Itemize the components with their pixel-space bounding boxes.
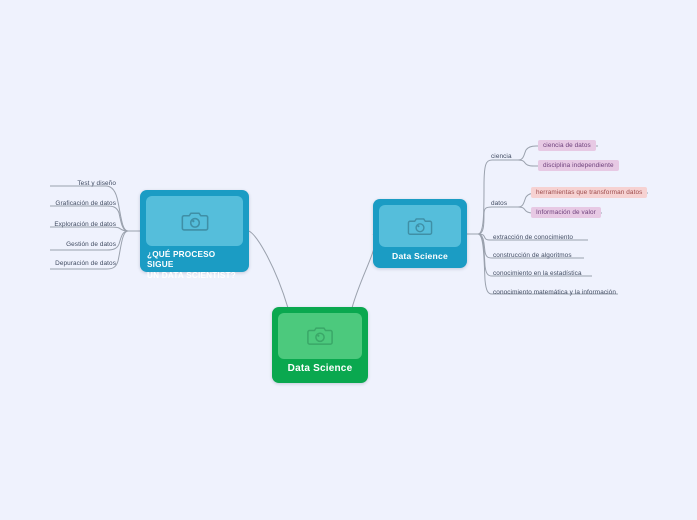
node-proceso-label-line1: ¿QUÉ PROCESO SIGUE [147,250,243,271]
leaf-ciencia[interactable]: ciencia [491,153,512,160]
node-data-science-thumbnail[interactable] [379,205,461,247]
camera-icon [407,216,433,237]
leaf-graficacion-de-datos[interactable]: Graficación de datos [50,200,116,207]
node-root-data-science[interactable]: Data Science [272,307,368,383]
mindmap-canvas: Data Science ¿QUÉ PROCESO SIGUE UN DATA … [0,0,697,520]
node-data-science-label: Data Science [379,251,461,262]
leaf-exploracion-de-datos[interactable]: Exploración de datos [50,221,116,228]
leaf-extraccion-de-conocimiento[interactable]: extracción de conocimiento [493,234,573,241]
leaf-depuracion-de-datos[interactable]: Depuración de datos [50,260,116,267]
leaf-conocimiento-matematica-y-la-informacion[interactable]: conocimiento matemática y la información [493,289,616,296]
link-root-to-proceso [249,231,288,308]
node-proceso-label-line2: UN DATA SCIENTIST? [147,271,243,281]
node-proceso-data-scientist[interactable]: ¿QUÉ PROCESO SIGUE UN DATA SCIENTIST? [140,190,249,272]
node-proceso-thumbnail[interactable] [146,196,243,246]
node-root-thumbnail[interactable] [278,313,362,359]
leaf-conocimiento-en-la-estadistica[interactable]: conocimiento en la estadística [493,270,582,277]
tag-informacion-de-valor[interactable]: Información de valor [531,207,601,218]
tag-ciencia-de-datos[interactable]: ciencia de datos [538,140,596,151]
link-right-1 [478,160,520,234]
tag-disciplina-independiente[interactable]: disciplina independiente [538,160,619,171]
node-data-science-right[interactable]: Data Science [373,199,467,268]
node-root-label: Data Science [278,363,362,376]
camera-icon [307,325,333,347]
link-root-to-datascience [352,234,375,308]
camera-icon [181,210,209,233]
tag-herramientas-que-transforman-datos[interactable]: herramientas que transforman datos [531,187,647,198]
link-right-6 [478,234,618,294]
leaf-construccion-de-algoritmos[interactable]: construcción de algoritmos [493,252,572,259]
leaf-datos[interactable]: datos [491,200,507,207]
leaf-test-y-diseno[interactable]: Test y diseño [50,180,116,187]
link-right-2 [478,207,520,234]
leaf-gestion-de-datos[interactable]: Gestión de datos [50,241,116,248]
node-proceso-label: ¿QUÉ PROCESO SIGUE UN DATA SCIENTIST? [146,250,243,281]
